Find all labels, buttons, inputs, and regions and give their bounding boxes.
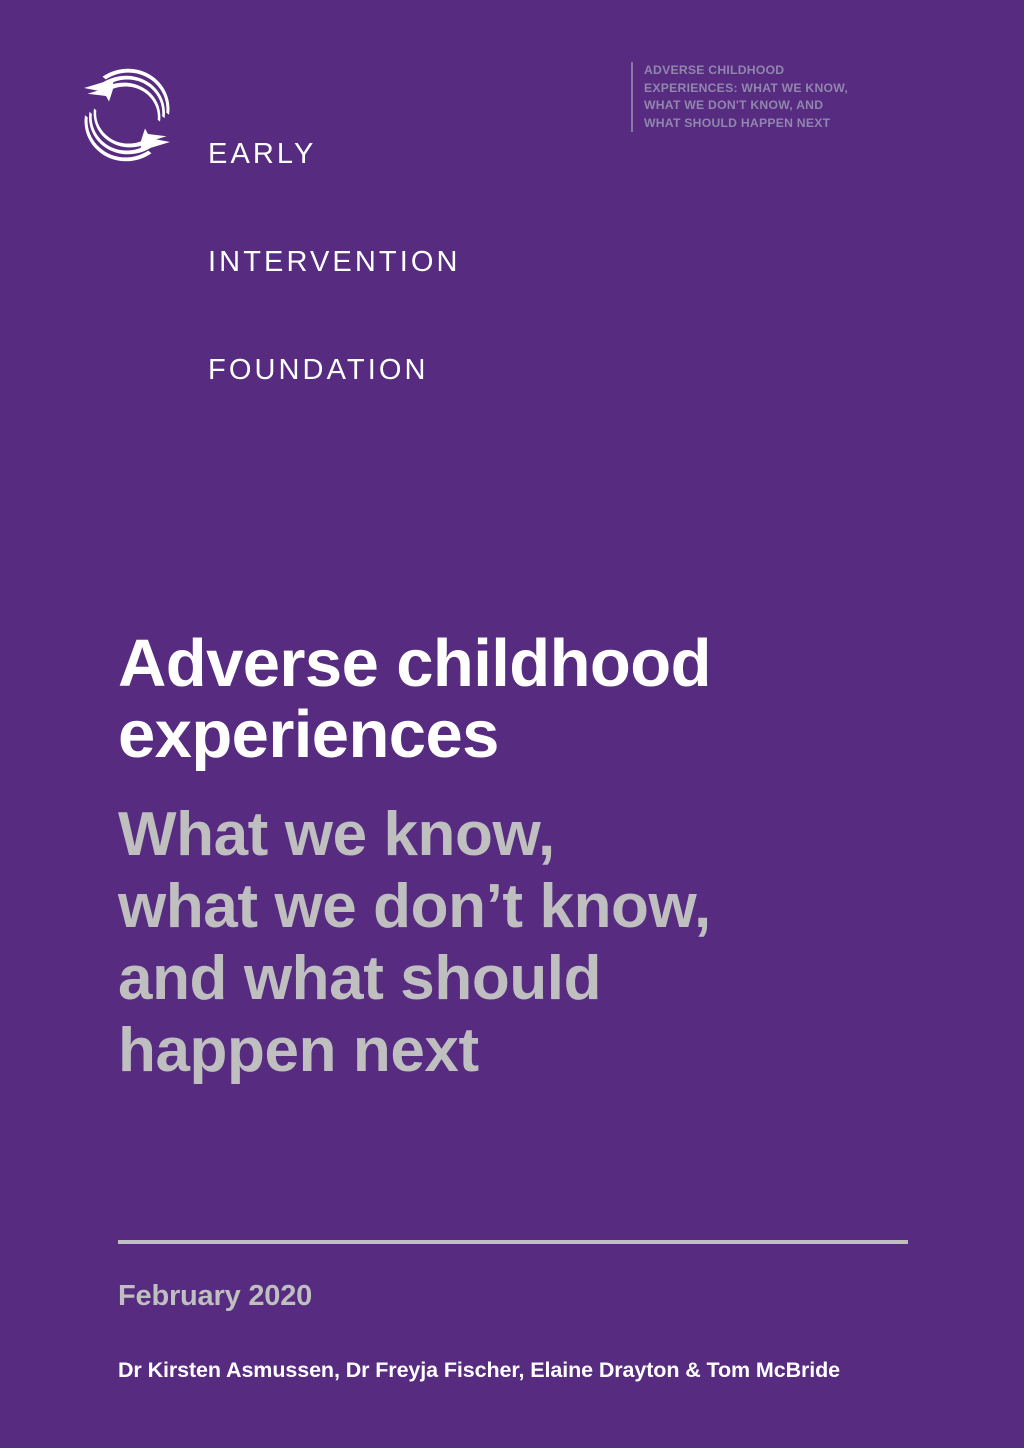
wordmark-line-2: INTERVENTION (208, 244, 461, 280)
organisation-wordmark: EARLY INTERVENTION FOUNDATION (208, 64, 461, 460)
page-header: EARLY INTERVENTION FOUNDATION ADVERSE CH… (0, 0, 1024, 200)
title-line-1: Adverse childhood (118, 628, 924, 699)
page-title: Adverse childhood experiences (118, 628, 924, 770)
subtitle-line-2: what we don’t know, (118, 871, 924, 943)
cover-title-block: Adverse childhood experiences What we kn… (118, 628, 924, 1087)
cover-footer: February 2020 Dr Kirsten Asmussen, Dr Fr… (118, 1240, 908, 1384)
running-head: ADVERSE CHILDHOOD EXPERIENCES: WHAT WE K… (631, 62, 848, 132)
title-line-2: experiences (118, 699, 924, 770)
running-head-line-2: EXPERIENCES: WHAT WE KNOW, (644, 80, 848, 98)
publication-date: February 2020 (118, 1244, 908, 1313)
running-head-line-4: WHAT SHOULD HAPPEN NEXT (644, 115, 848, 133)
running-head-line-3: WHAT WE DON'T KNOW, AND (644, 97, 848, 115)
subtitle-line-4: happen next (118, 1015, 924, 1087)
author-list: Dr Kirsten Asmussen, Dr Freyja Fischer, … (118, 1313, 908, 1384)
page-subtitle: What we know, what we don’t know, and wh… (118, 770, 924, 1087)
subtitle-line-3: and what should (118, 943, 924, 1015)
cover-page: EARLY INTERVENTION FOUNDATION ADVERSE CH… (0, 0, 1024, 1448)
circular-arrows-logo-icon (68, 56, 186, 174)
running-head-line-1: ADVERSE CHILDHOOD (644, 62, 848, 80)
organisation-logo: EARLY INTERVENTION FOUNDATION (68, 56, 461, 460)
wordmark-line-1: EARLY (208, 136, 461, 172)
wordmark-line-3: FOUNDATION (208, 352, 461, 388)
subtitle-line-1: What we know, (118, 799, 924, 871)
